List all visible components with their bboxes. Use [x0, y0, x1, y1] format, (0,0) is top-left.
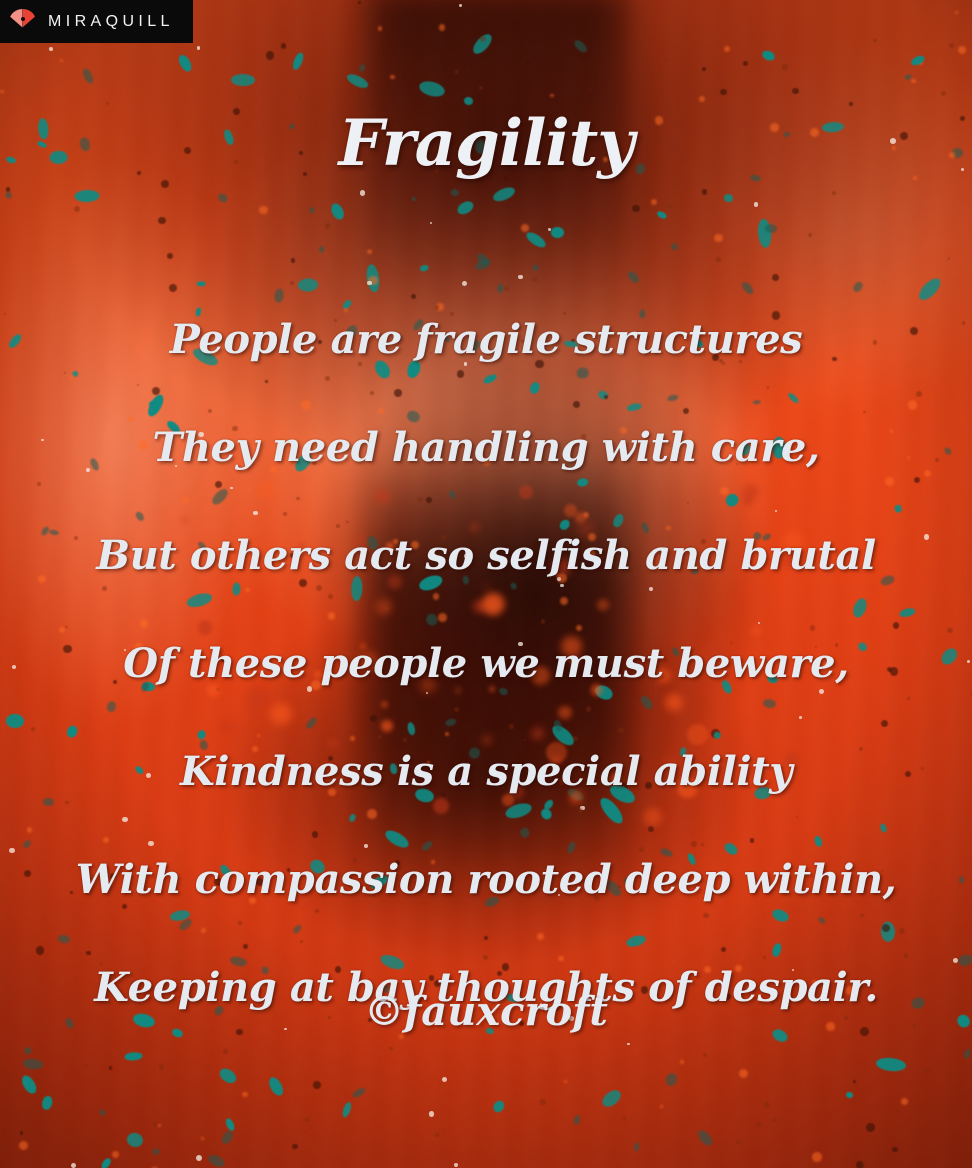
poem-line: They need handling with care,: [0, 394, 972, 502]
author-signature: ©fauxcroft: [0, 992, 972, 1032]
page-title: Fragility: [0, 112, 972, 176]
poem-line: Of these people we must beware,: [0, 610, 972, 718]
poem-content: Fragility People are fragile structures …: [0, 0, 972, 1168]
poem-poster: MIRAQUILL Fragility People are fragile s…: [0, 0, 972, 1168]
brand-banner[interactable]: MIRAQUILL: [0, 0, 193, 43]
heart-quill-nib-icon: [9, 9, 36, 35]
poem-line: Kindness is a special ability: [0, 718, 972, 826]
brand-name: MIRAQUILL: [48, 13, 174, 31]
poem-line: People are fragile structures: [0, 286, 972, 394]
poem-line: But others act so selfish and brutal: [0, 502, 972, 610]
poem-body: People are fragile structures They need …: [0, 286, 972, 1042]
poem-line: With compassion rooted deep within,: [0, 826, 972, 934]
logo-nib-dot: [21, 17, 25, 21]
